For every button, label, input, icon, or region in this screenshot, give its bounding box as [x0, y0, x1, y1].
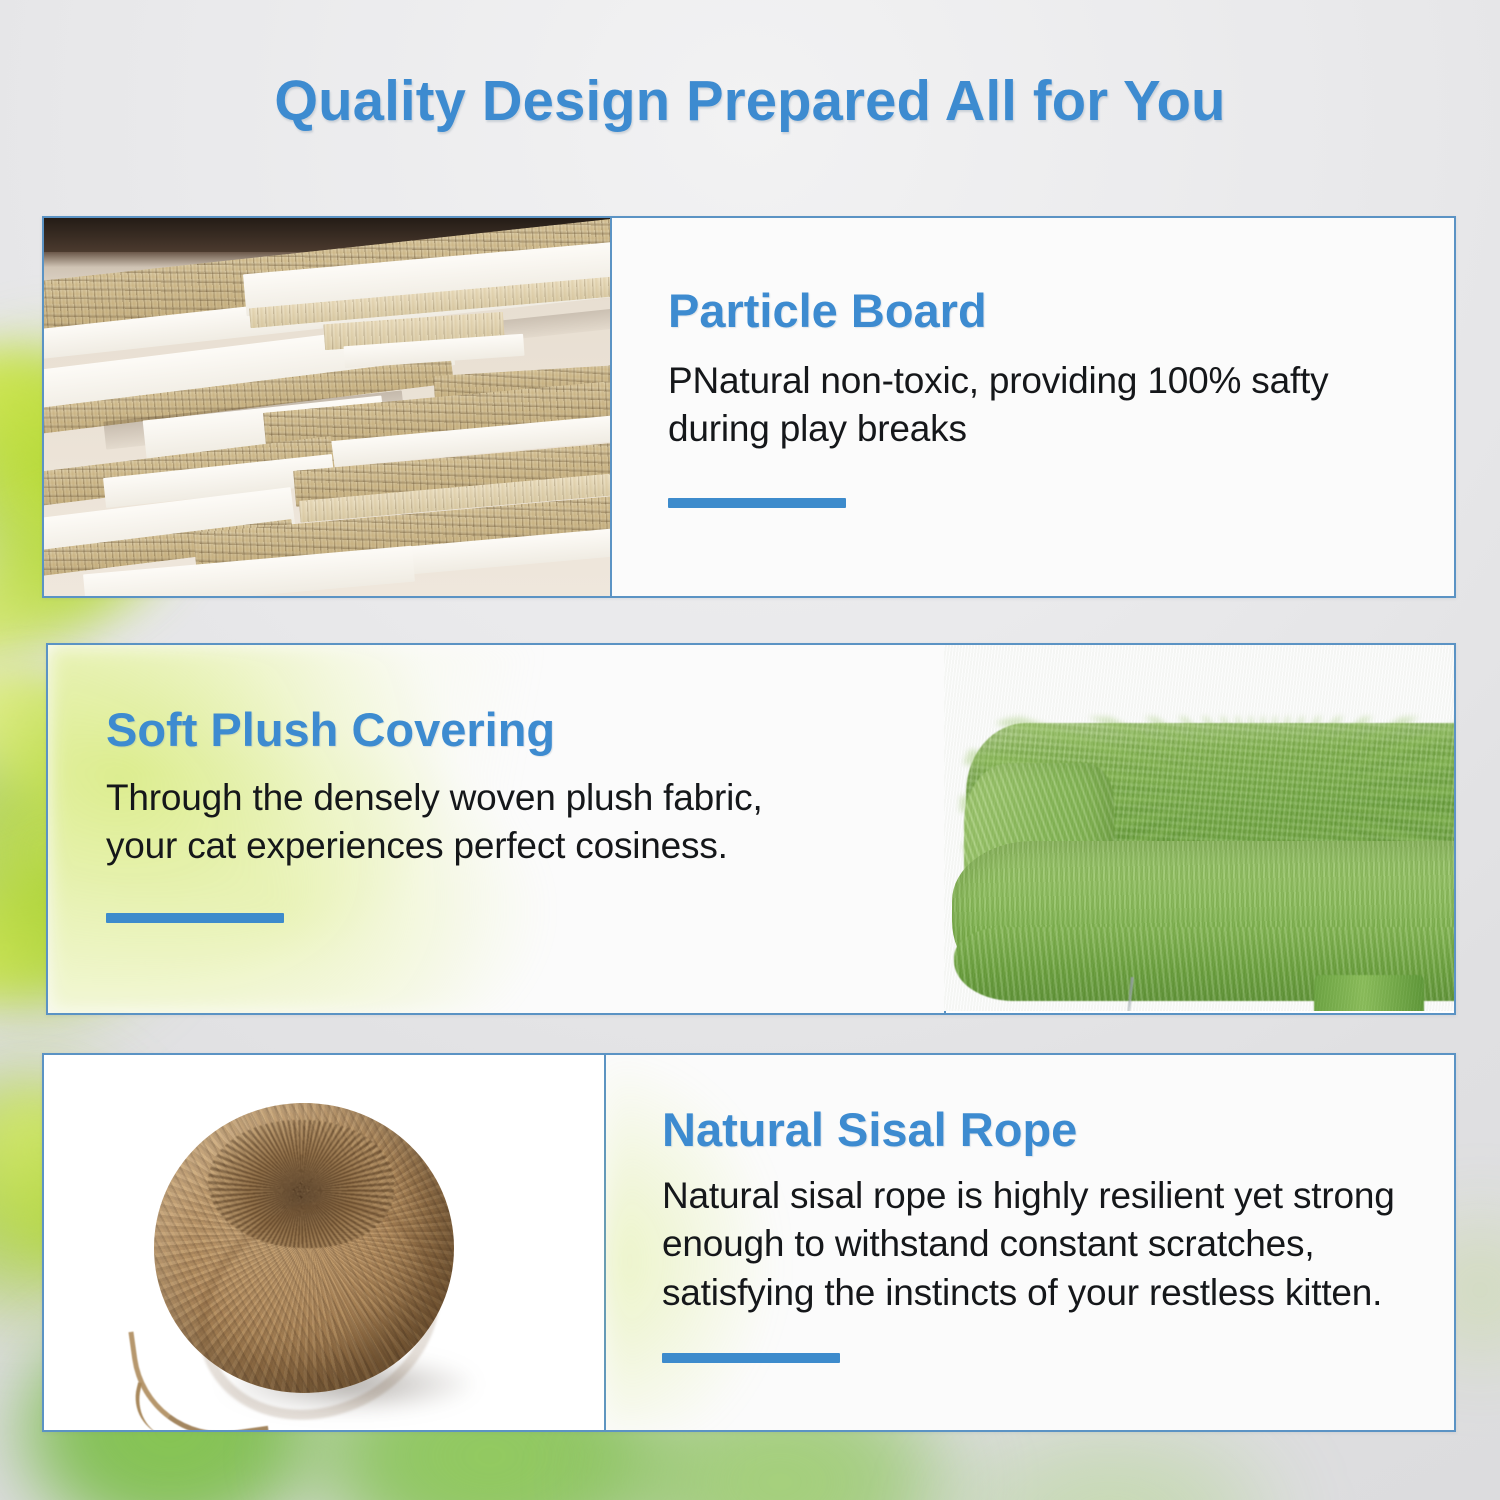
sisal-rope-photo: [44, 1055, 604, 1430]
plush-platform-photo: [944, 645, 1456, 1013]
page-title: Quality Design Prepared All for You: [11, 68, 1489, 134]
plush-support-post: [1314, 975, 1424, 1011]
particle-board-text-pane: Particle Board PNatural non-toxic, provi…: [610, 218, 1454, 596]
card-vertical-divider: [604, 1055, 606, 1430]
accent-underline-bar: [668, 498, 846, 508]
feature-card-soft-plush-covering: Soft Plush Covering Through the densely …: [46, 643, 1456, 1015]
card-body-text: Through the densely woven plush fabric, …: [106, 774, 806, 870]
card-body-text: Natural sisal rope is highly resilient y…: [662, 1172, 1452, 1316]
feature-card-natural-sisal-rope: Natural Sisal Rope Natural sisal rope is…: [42, 1053, 1456, 1432]
infographic-canvas: Quality Design Prepared All for You: [0, 0, 1500, 1500]
card-body-text: PNatural non-toxic, providing 100% safty…: [668, 357, 1408, 453]
accent-underline-bar: [662, 1353, 840, 1363]
accent-underline-bar: [106, 913, 284, 923]
foliage-blur-bottom-4: [900, 1420, 1320, 1500]
particle-board-photo: [44, 218, 610, 596]
feature-card-particle-board: Particle Board PNatural non-toxic, provi…: [42, 216, 1456, 598]
card-heading: Particle Board: [668, 286, 1454, 335]
green-plush-image: [944, 645, 1456, 1011]
card-vertical-divider: [610, 218, 612, 596]
particle-board-image: [44, 218, 610, 596]
card-heading: Natural Sisal Rope: [662, 1105, 1454, 1154]
sisal-rope-image: [44, 1055, 604, 1430]
sisal-rope-text-pane: Natural Sisal Rope Natural sisal rope is…: [604, 1055, 1454, 1430]
soft-plush-text-pane: Soft Plush Covering Through the densely …: [48, 645, 944, 1013]
card-heading: Soft Plush Covering: [106, 705, 944, 754]
